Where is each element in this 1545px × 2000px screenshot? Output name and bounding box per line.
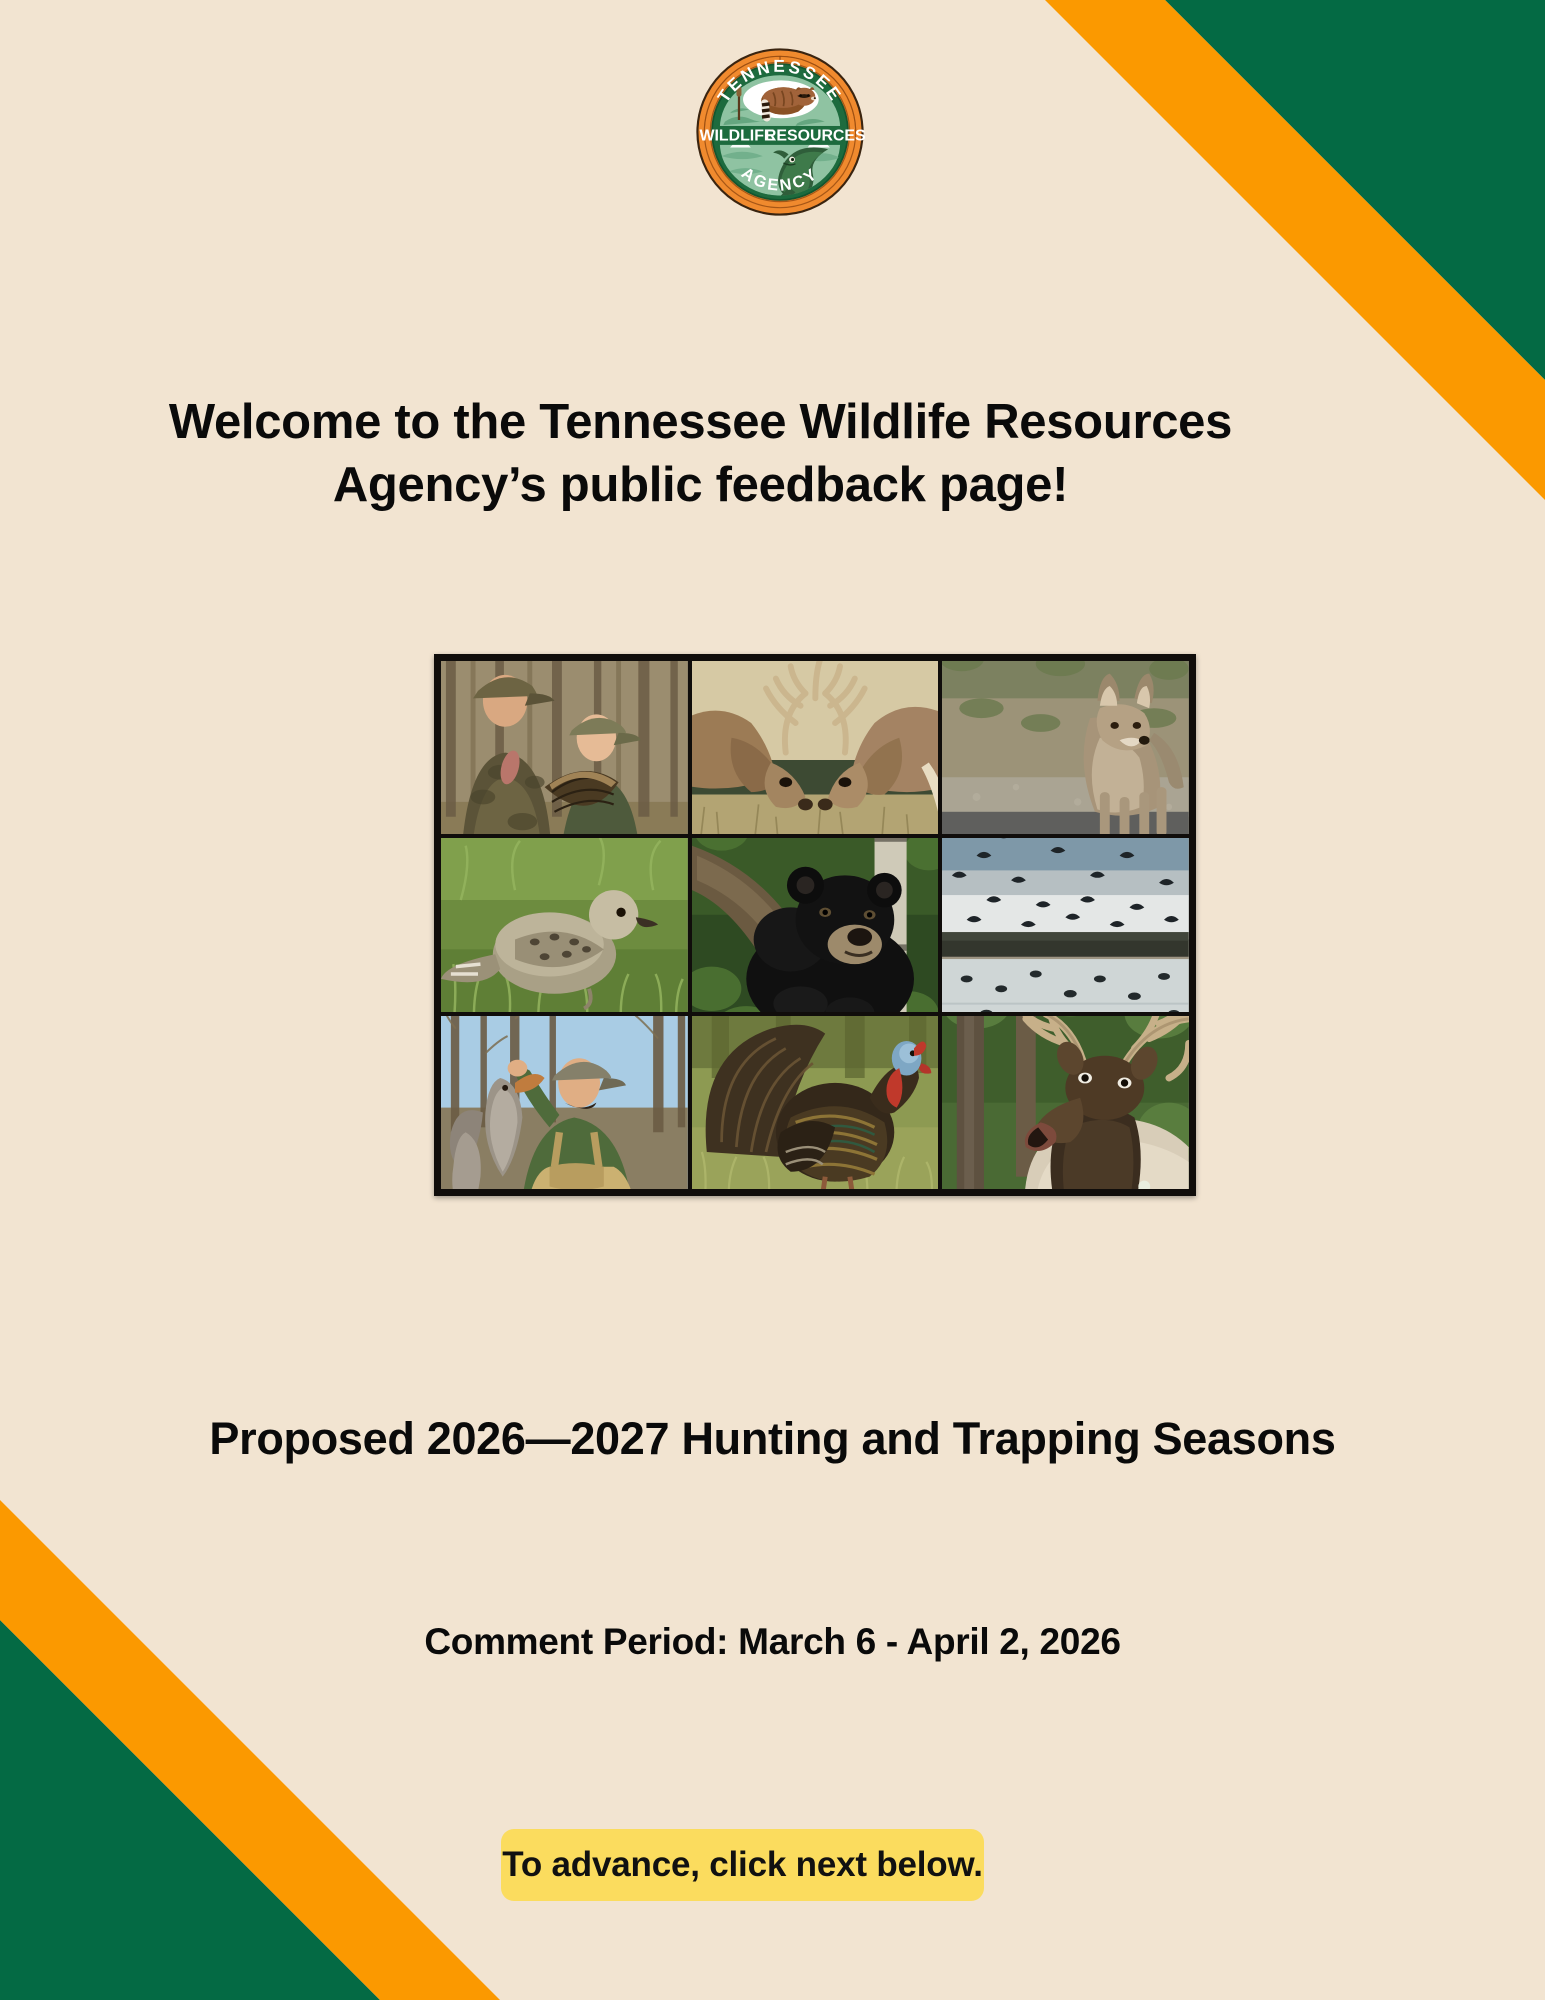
photo-strutting-turkey [692, 1016, 939, 1189]
photo-squirrel-hunter [441, 1016, 688, 1189]
twra-logo: TENNESSEE AGENCY WILDLIFE RESOURCES [694, 46, 866, 218]
photo-coyote [942, 661, 1189, 834]
photo-bull-elk [942, 1016, 1189, 1189]
logo-middle-right-text: RESOURCES [765, 128, 866, 145]
wildlife-photo-collage [434, 654, 1196, 1196]
photo-mourning-dove [441, 838, 688, 1011]
photo-hunters-with-turkey [441, 661, 688, 834]
photo-bucks-sparring [692, 661, 939, 834]
feedback-landing-page: TENNESSEE AGENCY WILDLIFE RESOURCES Welc… [0, 0, 1545, 2000]
photo-black-bear [692, 838, 939, 1011]
corner-stripe-bottom-left [0, 1440, 560, 2000]
comment-period-text: Comment Period: March 6 - April 2, 2026 [0, 1620, 1545, 1664]
page-title: Welcome to the Tennessee Wildlife Resour… [0, 391, 1401, 516]
season-title: Proposed 2026—2027 Hunting and Trapping … [0, 1412, 1545, 1466]
logo-middle-left-text: WILDLIFE [699, 128, 774, 145]
photo-waterfowl-flock [942, 838, 1189, 1011]
advance-instruction-button[interactable]: To advance, click next below. [501, 1829, 984, 1901]
